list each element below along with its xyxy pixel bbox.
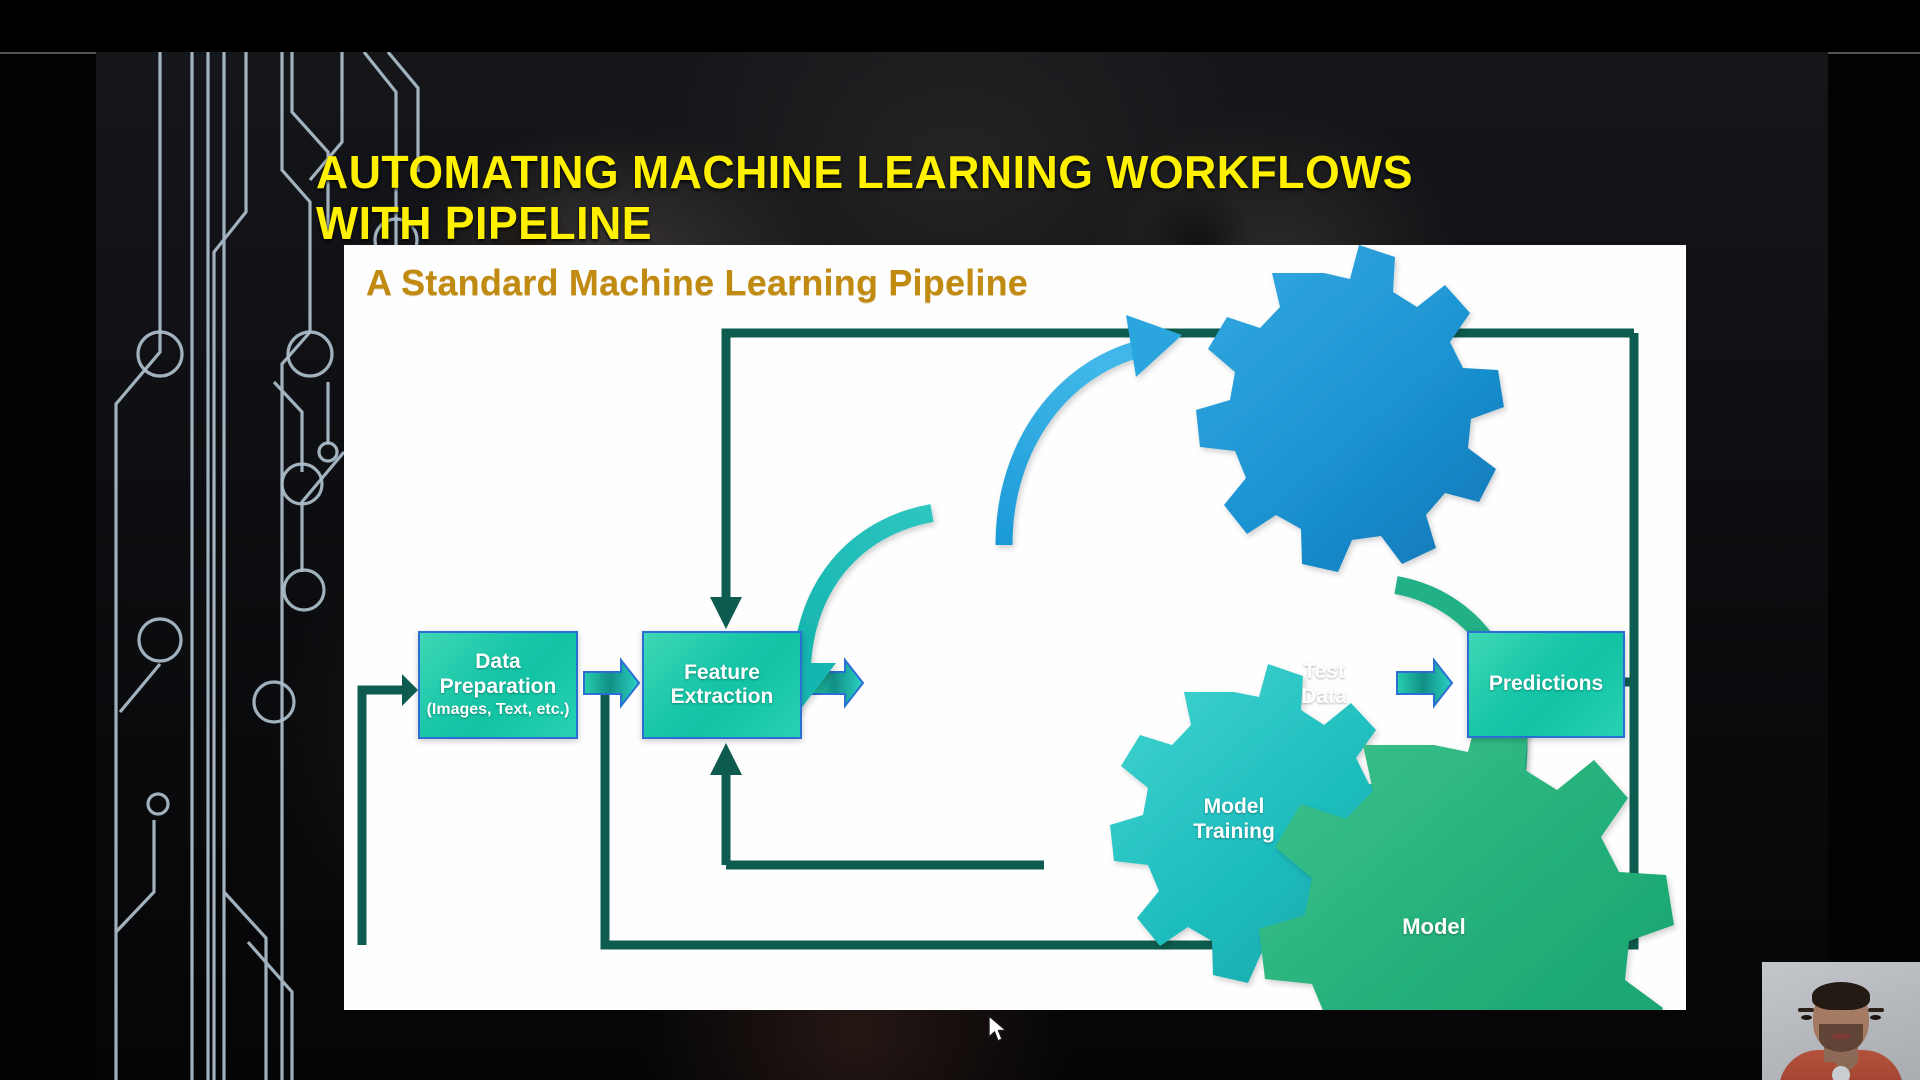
webcam-eyebrow-right bbox=[1868, 1008, 1884, 1012]
gear-test-data bbox=[1196, 245, 1504, 572]
diagram-panel: A Standard Machine Learning Pipeline bbox=[344, 245, 1686, 1010]
node-predictions[interactable]: Predictions bbox=[1467, 631, 1625, 738]
node-title-line1: Predictions bbox=[1489, 672, 1603, 696]
flow-arrow-model-to-predictions bbox=[1397, 660, 1452, 706]
node-feature-extraction[interactable]: Feature Extraction bbox=[642, 631, 802, 739]
screen: AUTOMATING MACHINE LEARNING WORKFLOWS WI… bbox=[0, 0, 1920, 1080]
curved-arrow-train-to-test bbox=[1004, 315, 1182, 545]
node-title-line1: Feature bbox=[671, 661, 774, 685]
flow-arrow-dataprep-to-feature bbox=[584, 660, 639, 706]
slide-title: AUTOMATING MACHINE LEARNING WORKFLOWS WI… bbox=[316, 147, 1693, 249]
node-title-line2: Extraction bbox=[671, 685, 774, 709]
webcam-shirt-logo bbox=[1832, 1066, 1850, 1080]
mouse-cursor-icon bbox=[988, 1015, 1010, 1045]
webcam-eyebrow-left bbox=[1798, 1008, 1814, 1012]
presentation-slide: AUTOMATING MACHINE LEARNING WORKFLOWS WI… bbox=[0, 52, 1920, 1080]
node-subtitle: (Images, Text, etc.) bbox=[427, 701, 570, 720]
pipeline-diagram bbox=[344, 245, 1686, 1010]
node-data-preparation[interactable]: Data Preparation (Images, Text, etc.) bbox=[418, 631, 578, 739]
webcam-eye-left bbox=[1801, 1015, 1812, 1020]
webcam-eye-right bbox=[1870, 1015, 1881, 1020]
node-title-line2: Preparation bbox=[427, 675, 570, 699]
webcam-mouth bbox=[1832, 1034, 1850, 1039]
presenter-video-thumbnail[interactable] bbox=[1762, 962, 1920, 1080]
node-title-line1: Data bbox=[427, 650, 570, 674]
webcam-hair bbox=[1812, 982, 1870, 1010]
